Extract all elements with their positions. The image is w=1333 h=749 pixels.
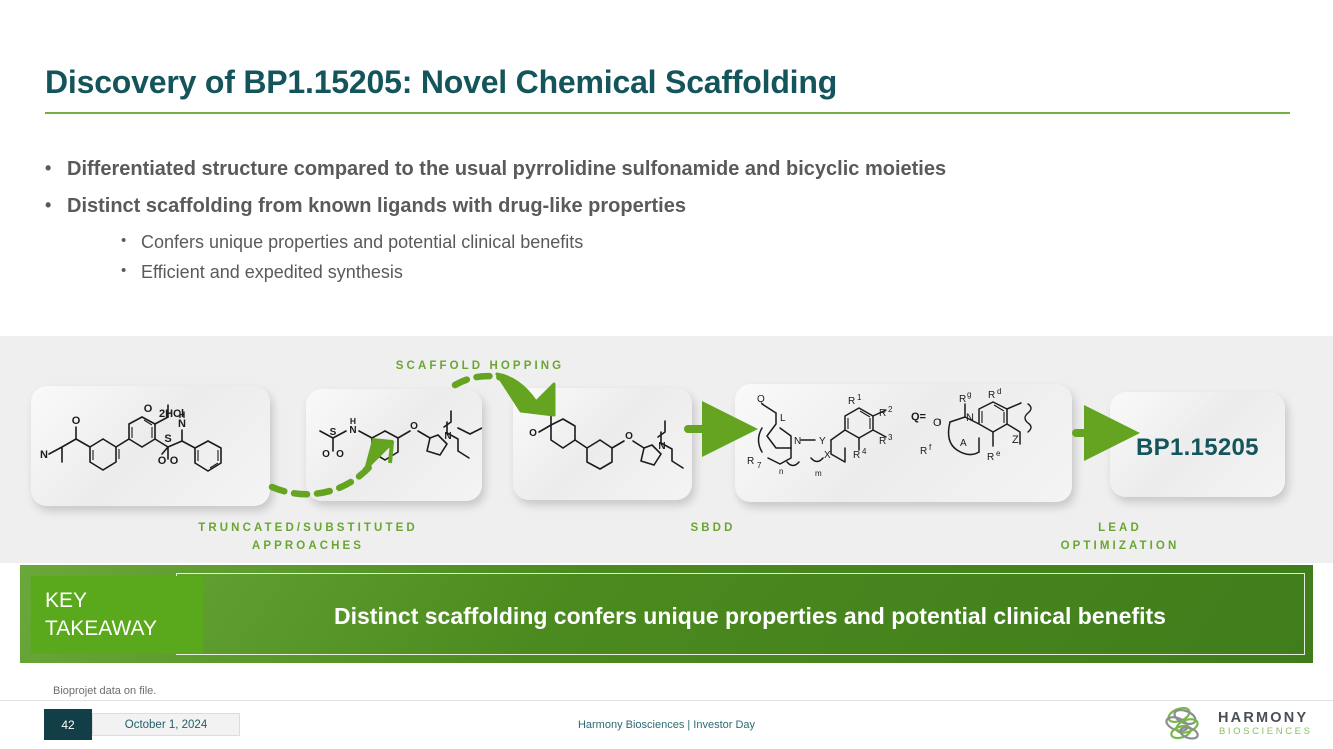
title-underline: [45, 112, 1290, 114]
stage-label-lead-line1: LEAD: [990, 520, 1250, 538]
bullet-item: • Differentiated structure compared to t…: [45, 156, 1295, 183]
key-takeaway-label: KEY TAKEAWAY: [31, 576, 203, 654]
bullet-text: Confers unique properties and potential …: [141, 230, 583, 255]
stage-label-truncated-line1: TRUNCATED/SUBSTITUTED: [158, 520, 458, 538]
stage-label-lead-line2: OPTIMIZATION: [990, 538, 1250, 556]
key-takeaway-label-line1: KEY: [45, 587, 203, 615]
arrow-hopping-dashed: [455, 376, 503, 385]
arrow-hopping-head: [497, 374, 554, 415]
bullet-item: • Distinct scaffolding from known ligand…: [45, 193, 1295, 220]
page-title: Discovery of BP1.15205: Novel Chemical S…: [45, 64, 837, 101]
arrow-truncated-dashed: [272, 463, 373, 494]
bullet-marker: •: [121, 230, 141, 251]
arrow-truncated-head: [364, 440, 392, 470]
source-note: Bioprojet data on file.: [53, 685, 156, 697]
bullet-item: • Confers unique properties and potentia…: [121, 230, 1295, 255]
key-takeaway-label-line2: TAKEAWAY: [45, 615, 203, 643]
slide-root: Discovery of BP1.15205: Novel Chemical S…: [0, 0, 1333, 749]
logo-word-bottom: BIOSCIENCES: [1219, 726, 1313, 737]
footer-divider: [0, 700, 1333, 701]
stage-label-truncated: TRUNCATED/SUBSTITUTED APPROACHES: [158, 520, 458, 556]
key-takeaway-message: Distinct scaffolding confers unique prop…: [210, 603, 1290, 630]
scaffold-diagram-band: N O O S O O N H 2HCl: [0, 336, 1333, 563]
footer-center-text: Harmony Biosciences | Investor Day: [0, 719, 1333, 731]
bullet-list: • Differentiated structure compared to t…: [45, 156, 1295, 290]
logo-word-top: HARMONY: [1218, 710, 1308, 726]
bullet-marker: •: [45, 193, 67, 217]
harmony-logo-graphic: HARMONY BIOSCIENCES: [1163, 705, 1313, 741]
stage-label-sbdd: SBDD: [613, 520, 813, 538]
stage-label-scaffold-hopping: SCAFFOLD HOPPING: [330, 358, 630, 376]
bullet-text: Distinct scaffolding from known ligands …: [67, 193, 686, 220]
harmony-logo: HARMONY BIOSCIENCES: [1163, 705, 1313, 741]
bullet-marker: •: [45, 156, 67, 180]
bullet-text: Differentiated structure compared to the…: [67, 156, 946, 183]
stage-label-truncated-line2: APPROACHES: [158, 538, 458, 556]
bullet-item: • Efficient and expedited synthesis: [121, 260, 1295, 285]
bullet-marker: •: [121, 260, 141, 281]
bullet-text: Efficient and expedited synthesis: [141, 260, 403, 285]
stage-label-lead-optimization: LEAD OPTIMIZATION: [990, 520, 1250, 556]
